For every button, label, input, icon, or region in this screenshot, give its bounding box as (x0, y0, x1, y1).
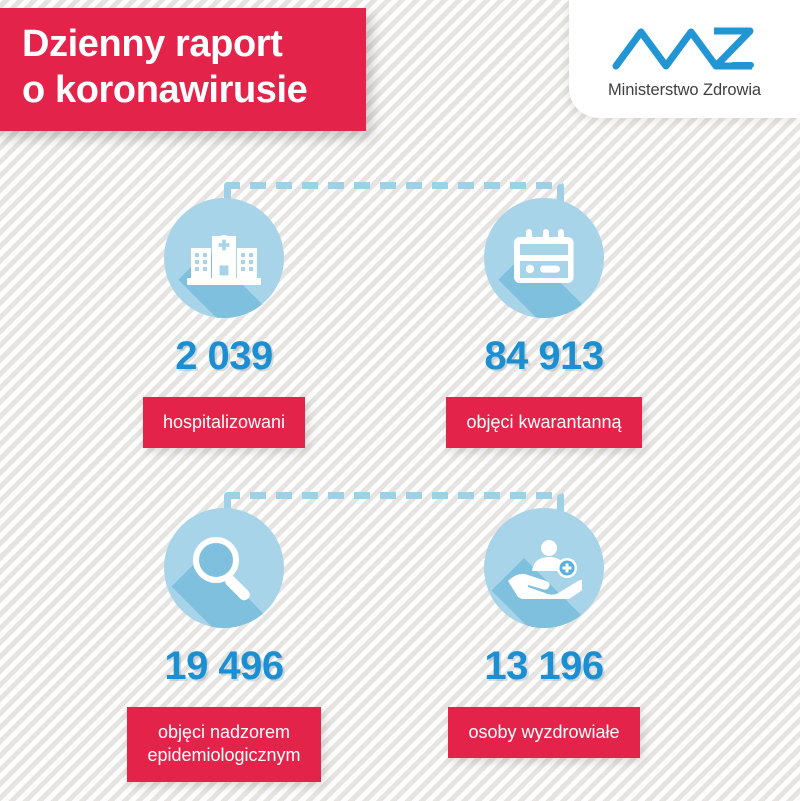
daily-coronavirus-report-poster: Dzienny raport o koronawirusie Ministers… (0, 0, 800, 801)
stat-quarantine: 84 913 objęci kwarantanną (384, 198, 704, 448)
stat-value: 13 196 (484, 644, 603, 689)
stat-label-hospitalized: hospitalizowani (143, 397, 305, 448)
page-title-line-1: Dzienny raport (22, 22, 350, 68)
stat-value: 19 496 (164, 644, 283, 689)
hospital-icon-circle (164, 198, 284, 318)
stat-label-line: osoby wyzdrowiałe (468, 721, 619, 744)
ministry-logo-text: Ministerstwo Zdrowia (608, 81, 761, 100)
calendar-icon (513, 227, 575, 289)
mz-zigzag-logo-icon (610, 22, 760, 74)
calendar-icon-circle (484, 198, 604, 318)
stat-value: 2 039 (175, 334, 273, 379)
stat-value: 84 913 (484, 334, 603, 379)
stat-label-line: objęci nadzorem (147, 721, 300, 744)
stat-label-surveillance: objęci nadzorem epidemiologicznym (127, 707, 320, 782)
report-title-banner: Dzienny raport o koronawirusie (0, 8, 366, 131)
stat-recovered: 13 196 osoby wyzdrowiałe (384, 508, 704, 758)
stat-hospitalized: 2 039 hospitalizowani (64, 198, 384, 448)
connector-dashes (224, 182, 564, 189)
stat-label-recovered: osoby wyzdrowiałe (448, 707, 639, 758)
hand-person-care-icon-circle (484, 508, 604, 628)
page-title-line-2: o koronawirusie (22, 68, 350, 114)
connector-dashes (224, 492, 564, 499)
magnifier-icon (189, 533, 259, 603)
hospital-icon (187, 228, 261, 288)
stat-label-line: hospitalizowani (163, 411, 285, 434)
magnifier-icon-circle (164, 508, 284, 628)
hand-person-care-icon (506, 537, 582, 599)
stat-label-line: objęci kwarantanną (466, 411, 621, 434)
stat-epidemiological-surveillance: 19 496 objęci nadzorem epidemiologicznym (64, 508, 384, 782)
ministry-logo-card: Ministerstwo Zdrowia (569, 0, 800, 118)
stat-label-quarantine: objęci kwarantanną (446, 397, 641, 448)
stat-label-line: epidemiologicznym (147, 744, 300, 767)
